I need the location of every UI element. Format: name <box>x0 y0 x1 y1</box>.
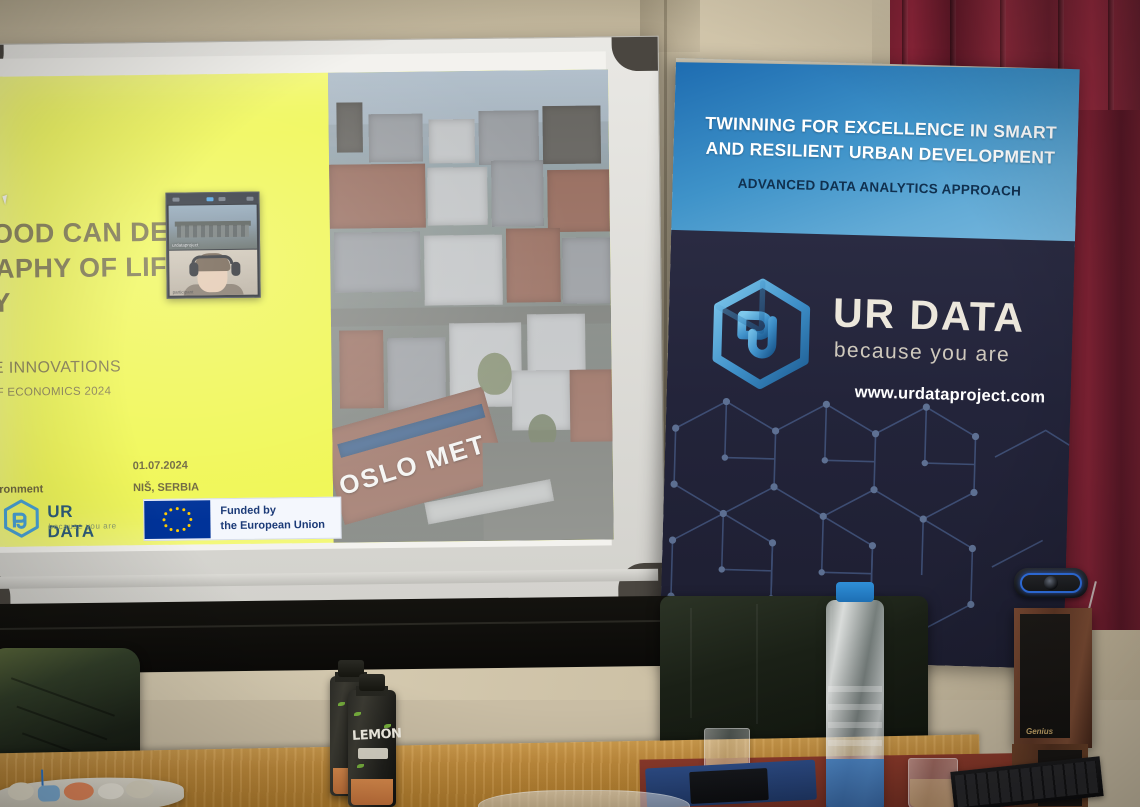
slide-photo-oslo: OSLO MET <box>328 69 614 542</box>
video-call-window[interactable]: urdataproject participant <box>165 192 260 299</box>
water-bottle <box>826 600 884 807</box>
banner-headline: TWINNING FOR EXCELLENCE IN SMART AND RES… <box>701 111 1060 171</box>
wall-cable <box>0 620 670 630</box>
eu-flag-icon <box>144 500 210 539</box>
headset-cup-left-icon <box>189 262 198 276</box>
video-call-pane-top: urdataproject <box>169 205 258 250</box>
food-item <box>125 780 154 799</box>
banner-brand-name: UR DATA <box>832 292 1025 338</box>
projection-whiteboard: OSLO MET ST FOOD CAN DEFINE OGRAPHY OF L… <box>0 36 665 607</box>
speaker-brand-label: Genius <box>1026 727 1053 736</box>
video-pane-audience <box>177 225 249 238</box>
slide-urdata-logo: UR DATA because you are <box>0 495 124 543</box>
webcam[interactable] <box>1014 568 1088 598</box>
board-corner-top-right <box>612 37 658 72</box>
slide-logo-tagline: because you are <box>48 521 116 531</box>
presentation-slide: OSLO MET ST FOOD CAN DEFINE OGRAPHY OF L… <box>0 69 614 547</box>
desktop-speaker-top: Genius <box>1014 608 1092 748</box>
mouse-cursor-icon <box>2 193 13 204</box>
food-item <box>64 782 95 801</box>
slide-subtitle: AINABLE INNOVATIONS <box>0 355 354 378</box>
bottle-sublabel <box>358 748 388 759</box>
banner-tagline: because you are <box>834 339 1011 368</box>
water-bottle-label <box>826 759 884 807</box>
photo-projection-haze <box>328 69 614 542</box>
food-item <box>7 782 34 801</box>
eu-funding-line-1: Funded by <box>220 503 325 519</box>
lemon-bottle-front: LEMON <box>348 690 396 807</box>
urdata-cube-icon <box>0 496 44 541</box>
slide-date: 01.07.2024 <box>133 453 333 477</box>
urdata-cube-icon <box>705 275 818 396</box>
notebook <box>689 768 769 804</box>
slide-event: SCHOOL OF ECONOMICS 2024 <box>0 382 354 399</box>
speaker-grille <box>1020 614 1070 738</box>
slide-meta-block: 01.07.2024 NIŠ, SERBIA <box>133 453 334 499</box>
conference-room-scene: OSLO MET ST FOOD CAN DEFINE OGRAPHY OF L… <box>0 0 1140 807</box>
video-call-top-label: urdataproject <box>172 242 198 247</box>
food-item <box>38 785 61 802</box>
headset-cup-right-icon <box>231 262 240 276</box>
food-item <box>98 783 125 800</box>
video-call-titlebar <box>166 193 258 205</box>
eu-funding-badge: Funded by the European Union <box>143 497 341 541</box>
webcam-lens-icon <box>1044 576 1058 590</box>
eu-funding-line-2: the European Union <box>220 518 325 534</box>
video-call-bottom-label: participant <box>173 289 194 294</box>
video-call-active-indicator <box>206 197 213 201</box>
board-pen-tray <box>0 569 658 589</box>
water-bottle-cap <box>836 582 874 602</box>
video-call-pane-bottom: participant <box>169 250 258 296</box>
bottle-label: LEMON <box>352 727 387 744</box>
board-surface: OSLO MET ST FOOD CAN DEFINE OGRAPHY OF L… <box>0 51 612 553</box>
slide-location: NIŠ, SERBIA <box>133 475 333 499</box>
